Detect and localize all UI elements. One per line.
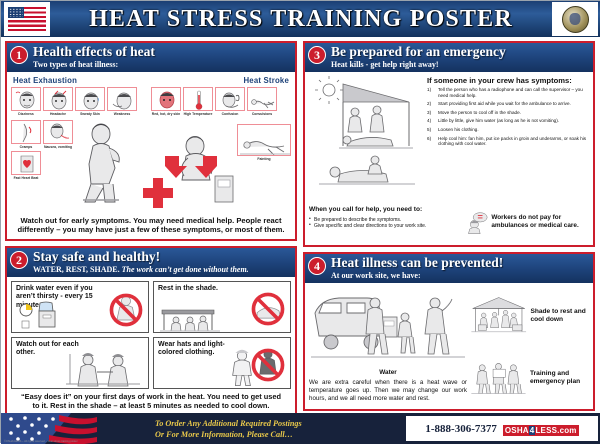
right-column: 3 Be prepared for an emergency Heat kill…	[303, 41, 595, 416]
symptom-caption: Weakness	[107, 112, 137, 116]
symptom-caption: Fast Heart Beat	[11, 176, 41, 180]
symptom-cell: Dizziness	[11, 87, 41, 116]
call-for-help-section: When you call for help, you need to: Be …	[309, 203, 589, 241]
no-sign-icon	[248, 345, 288, 385]
step-item: Help cool him: fan him, put ice packs in…	[427, 136, 589, 147]
no-pay-note: Workers do not pay for ambulances or med…	[491, 214, 589, 230]
tip-rest-in-shade: Rest in the shade.	[153, 281, 291, 333]
symptom-cell: High Temperature	[183, 87, 213, 116]
no-sign-icon	[248, 289, 288, 329]
no-pay-section: Workers do not pay for ambulances or med…	[465, 203, 589, 241]
symptom-high-temperature-icon	[183, 87, 213, 111]
water-truck-crew-icon	[309, 287, 467, 363]
footer-order-line-1: To Order Any Additional Required Posting…	[155, 418, 302, 429]
symptom-cell: Confusion	[215, 87, 245, 116]
symptom-cell: Convulsions	[247, 87, 277, 116]
symptom-cramps-icon	[11, 120, 41, 144]
tip-label: Rest in the shade.	[158, 285, 238, 293]
shade-tent-icon	[158, 298, 228, 332]
shade-row: Shade to rest and cool down	[470, 287, 592, 345]
steps-list: Tell the person who has a radiophone and…	[427, 87, 589, 147]
footer-phone-number[interactable]: 1-888-306-7377	[425, 423, 497, 435]
symptom-cell: Sweaty Skin	[75, 87, 105, 116]
no-sign-icon	[106, 290, 146, 330]
symptom-column-right: Fainting	[237, 124, 291, 161]
logo-left-text: OSHA	[505, 426, 529, 435]
call-bullet-item: Give specific and clear directions to yo…	[309, 223, 461, 229]
first-aid-cross-icon	[141, 176, 175, 210]
tip-wear-hats-light-clothing: Wear hats and light-colored clothing.	[153, 337, 291, 389]
heat-stroke-label: Heat Stroke	[243, 76, 289, 85]
step-item: Little by little, give him water (as lon…	[427, 118, 589, 124]
symptom-caption: High Temperature	[183, 112, 213, 116]
symptom-caption: Cramps	[11, 145, 41, 149]
symptom-headache-icon	[43, 87, 73, 111]
training-label: Training and emergency plan	[530, 370, 592, 387]
footer-order-text: To Order Any Additional Required Posting…	[155, 418, 302, 440]
call-for-help-text: When you call for help, you need to: Be …	[309, 203, 461, 241]
panel-4-title: Heat illness can be prevented!	[331, 256, 589, 270]
poster-header: HEAT STRESS TRAINING POSTER	[1, 1, 600, 37]
panel-3-columns: If someone in your crew has symptoms: Te…	[309, 76, 589, 201]
panel-2-title: Stay safe and healthy!	[33, 250, 291, 264]
tip-label: Wear hats and light-colored clothing.	[158, 341, 238, 358]
panel-2-body: Drink water even if you aren’t thirsty -…	[7, 277, 295, 415]
panel-2-subtitle-bold: WATER, REST, SHADE.	[33, 265, 120, 274]
us-flag-icon	[4, 2, 50, 36]
steps-heading: If someone in your crew has symptoms:	[427, 76, 589, 85]
panel-2-header: 2 Stay safe and healthy! WATER, REST, SH…	[7, 248, 295, 277]
panel-2-subtitle: WATER, REST, SHADE. The work can’t get d…	[33, 265, 291, 274]
symptom-fainting-icon	[237, 124, 291, 156]
poster-body: 1 Health effects of heat Two types of he…	[1, 37, 600, 413]
symptom-confusion-icon	[215, 87, 245, 111]
water-section: Water We are extra careful when there is…	[309, 287, 467, 405]
prevention-columns: Water We are extra careful when there is…	[309, 287, 589, 405]
shade-tent-crew-icon	[470, 287, 527, 345]
illness-type-headings: Heat Exhaustion Heat Stroke	[11, 76, 291, 85]
panel-prevention: 4 Heat illness can be prevented! At our …	[303, 252, 595, 411]
prevention-paragraph: We are extra careful when there is a hea…	[309, 379, 467, 403]
water-cooler-icon	[18, 301, 78, 331]
radio-call-worker-icon	[465, 203, 488, 241]
panel-2-subtitle-italic: The work can’t get done without them.	[122, 265, 249, 274]
symptom-caption: Dizziness	[11, 112, 41, 116]
footer-order-line-2: Or For More Information, Please Call…	[155, 429, 302, 440]
safety-tips-grid: Drink water even if you aren’t thirsty -…	[11, 281, 291, 389]
symptom-caption: Fainting	[237, 157, 291, 161]
symptom-dizziness-icon	[11, 87, 41, 111]
us-flag-waving-icon: ©OSHA4LESS – All rights reserved – heat …	[1, 413, 97, 444]
symptom-red-hot-dry-skin-icon	[151, 87, 181, 111]
step-item: Tell the person who has a radiophone and…	[427, 87, 589, 98]
tip-drink-water: Drink water even if you aren’t thirsty -…	[11, 281, 149, 333]
left-column: 1 Health effects of heat Two types of he…	[5, 41, 297, 422]
symptom-cell: Weakness	[107, 87, 137, 116]
symptom-caption: Sweaty Skin	[75, 112, 105, 116]
panel-1-illustration: Cramps	[11, 118, 291, 214]
symptom-caption: Convulsions	[247, 112, 277, 116]
prevention-side-items: Shade to rest and cool down	[470, 287, 592, 405]
panel-1-title: Health effects of heat	[33, 45, 291, 59]
symptom-cell: Red, hot, dry skin	[151, 87, 181, 116]
osha4less-logo[interactable]: OSHA4LESS.com	[503, 420, 579, 438]
panel-stay-safe: 2 Stay safe and healthy! WATER, REST, SH…	[5, 246, 297, 417]
panel-2-number: 2	[10, 251, 28, 269]
training-row: Training and emergency plan	[470, 351, 592, 405]
call-heading: When you call for help, you need to:	[309, 206, 461, 214]
poster-footer: ©OSHA4LESS – All rights reserved – heat …	[1, 413, 600, 444]
call-bullets: Be prepared to describe the symptoms. Gi…	[309, 217, 461, 230]
panel-3-subtitle: Heat kills - get help right away!	[331, 60, 589, 69]
panel-1-subtitle: Two types of heat illness:	[33, 60, 291, 69]
shade-label: Shade to rest and cool down	[530, 308, 591, 325]
symptom-cell: Cramps	[11, 120, 41, 149]
symptom-cell: Fast Heart Beat	[11, 151, 41, 180]
panel-2-note: “Easy does it” on your first days of wor…	[11, 389, 291, 411]
page-title: HEAT STRESS TRAINING POSTER	[50, 6, 552, 33]
spacer	[139, 87, 149, 116]
water-caption: Water	[309, 369, 467, 376]
panel-3-body: If someone in your crew has symptoms: Te…	[305, 72, 593, 245]
panel-3-number: 3	[308, 46, 326, 64]
heat-stress-poster: HEAT STRESS TRAINING POSTER 1 Health eff…	[0, 0, 600, 443]
symptom-weakness-icon	[107, 87, 137, 111]
worker-illustration	[55, 118, 245, 212]
emergency-illustration	[309, 76, 423, 201]
panel-4-body: Water We are extra careful when there is…	[305, 283, 593, 409]
step-item: Move the person to cool off in the shade…	[427, 110, 589, 116]
emergency-steps: If someone in your crew has symptoms: Te…	[427, 76, 589, 201]
panel-4-number: 4	[308, 257, 326, 275]
tip-watch-out-for-each-other: Watch out for each other.	[11, 337, 149, 389]
panel-4-header: 4 Heat illness can be prevented! At our …	[305, 254, 593, 283]
panel-3-header: 3 Be prepared for an emergency Heat kill…	[305, 43, 593, 72]
footer-contact-box: 1-888-306-7377 OSHA4LESS.com	[406, 416, 598, 441]
two-workers-icon	[64, 348, 144, 388]
dol-seal-icon	[552, 2, 598, 36]
logo-right-text: LESS.com	[535, 426, 576, 435]
panel-health-effects: 1 Health effects of heat Two types of he…	[5, 41, 297, 241]
heat-exhaustion-label: Heat Exhaustion	[13, 76, 77, 85]
training-meeting-icon	[470, 351, 527, 405]
symptom-grid: Dizziness	[11, 87, 291, 116]
symptom-caption: Red, hot, dry skin	[151, 112, 181, 116]
first-aid-scene-icon	[309, 76, 423, 196]
step-item: Loosen his clothing.	[427, 127, 589, 133]
panel-4-subtitle: At our work site, we have:	[331, 271, 589, 280]
symptom-caption: Headache	[43, 112, 73, 116]
symptom-caption: Confusion	[215, 112, 245, 116]
panel-emergency: 3 Be prepared for an emergency Heat kill…	[303, 41, 595, 247]
panel-1-number: 1	[10, 46, 28, 64]
symptom-fast-heart-beat-icon	[11, 151, 41, 175]
panel-1-note: Watch out for early symptoms. You may ne…	[11, 214, 291, 235]
symptom-row-top: Dizziness	[11, 87, 291, 116]
symptom-convulsions-icon	[247, 87, 277, 111]
symptom-cell: Fainting	[237, 124, 291, 161]
symptom-sweaty-skin-icon	[75, 87, 105, 111]
panel-3-title: Be prepared for an emergency	[331, 45, 589, 59]
panel-1-body: Heat Exhaustion Heat Stroke	[7, 72, 295, 239]
step-item: Start providing first aid while you wait…	[427, 101, 589, 107]
logo-text: OSHA4LESS.com	[503, 425, 579, 436]
panel-1-header: 1 Health effects of heat Two types of he…	[7, 43, 295, 72]
symptom-cell: Headache	[43, 87, 73, 116]
